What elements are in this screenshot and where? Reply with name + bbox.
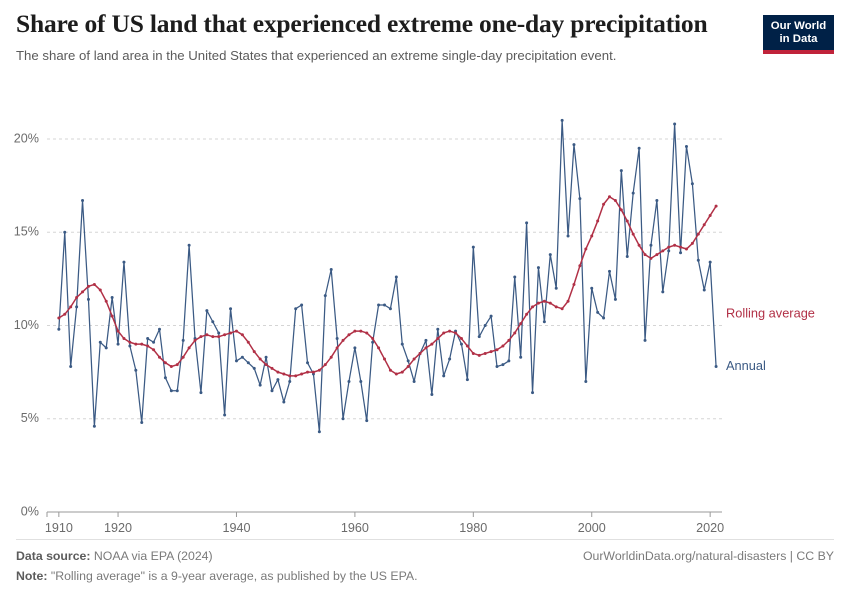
data-point[interactable] xyxy=(87,298,90,301)
data-point[interactable] xyxy=(484,352,487,355)
data-point[interactable] xyxy=(531,305,534,308)
data-point[interactable] xyxy=(312,371,315,374)
data-point[interactable] xyxy=(211,335,214,338)
data-point[interactable] xyxy=(217,331,220,334)
data-point[interactable] xyxy=(69,305,72,308)
x-axis-tick-label: 1980 xyxy=(459,521,487,534)
data-point[interactable] xyxy=(122,337,125,340)
data-point[interactable] xyxy=(679,251,682,254)
data-point[interactable] xyxy=(152,348,155,351)
data-point[interactable] xyxy=(383,303,386,306)
data-point[interactable] xyxy=(99,341,102,344)
data-point[interactable] xyxy=(389,369,392,372)
data-point[interactable] xyxy=(614,199,617,202)
data-point[interactable] xyxy=(347,380,350,383)
series-line-annual[interactable] xyxy=(59,120,716,431)
data-point[interactable] xyxy=(537,266,540,269)
data-point[interactable] xyxy=(584,248,587,251)
data-point[interactable] xyxy=(632,192,635,195)
data-point[interactable] xyxy=(442,374,445,377)
data-point[interactable] xyxy=(407,365,410,368)
chart-page: Share of US land that experienced extrem… xyxy=(0,0,850,600)
data-point[interactable] xyxy=(649,244,652,247)
data-point[interactable] xyxy=(501,363,504,366)
data-point[interactable] xyxy=(655,199,658,202)
data-point[interactable] xyxy=(436,337,439,340)
data-point[interactable] xyxy=(531,391,534,394)
data-point[interactable] xyxy=(75,305,78,308)
data-point[interactable] xyxy=(490,315,493,318)
data-point[interactable] xyxy=(407,359,410,362)
data-point[interactable] xyxy=(288,374,291,377)
data-point[interactable] xyxy=(709,214,712,217)
data-point[interactable] xyxy=(507,359,510,362)
data-point[interactable] xyxy=(259,358,262,361)
data-point[interactable] xyxy=(117,330,120,333)
data-point[interactable] xyxy=(128,345,131,348)
data-point[interactable] xyxy=(413,358,416,361)
attribution-link[interactable]: OurWorldinData.org/natural-disasters | C… xyxy=(583,546,834,566)
data-point[interactable] xyxy=(413,380,416,383)
data-point[interactable] xyxy=(525,313,528,316)
data-point[interactable] xyxy=(223,414,226,417)
data-point[interactable] xyxy=(294,374,297,377)
data-point[interactable] xyxy=(685,145,688,148)
data-point[interactable] xyxy=(632,233,635,236)
x-axis-tick-label: 1960 xyxy=(341,521,369,534)
data-point[interactable] xyxy=(318,430,321,433)
note-value: "Rolling average" is a 9-year average, a… xyxy=(47,569,417,583)
series-label-rolling-average: Rolling average xyxy=(726,306,815,321)
data-point[interactable] xyxy=(140,421,143,424)
data-point[interactable] xyxy=(324,294,327,297)
data-point[interactable] xyxy=(614,298,617,301)
x-axis-tick-label: 2020 xyxy=(696,521,724,534)
data-point[interactable] xyxy=(389,307,392,310)
data-point[interactable] xyxy=(229,331,232,334)
series-label-annual: Annual xyxy=(726,358,766,373)
data-point[interactable] xyxy=(300,303,303,306)
data-point[interactable] xyxy=(199,335,202,338)
data-point[interactable] xyxy=(567,234,570,237)
data-point[interactable] xyxy=(555,305,558,308)
data-point[interactable] xyxy=(241,333,244,336)
data-point[interactable] xyxy=(318,369,321,372)
data-point[interactable] xyxy=(484,324,487,327)
data-point[interactable] xyxy=(276,371,279,374)
data-point[interactable] xyxy=(691,242,694,245)
data-point[interactable] xyxy=(57,317,60,320)
data-point[interactable] xyxy=(626,220,629,223)
data-point[interactable] xyxy=(596,311,599,314)
data-point[interactable] xyxy=(490,350,493,353)
data-point[interactable] xyxy=(395,276,398,279)
data-point[interactable] xyxy=(271,389,274,392)
data-point[interactable] xyxy=(111,296,114,299)
data-point[interactable] xyxy=(424,346,427,349)
data-point[interactable] xyxy=(436,328,439,331)
data-point[interactable] xyxy=(365,331,368,334)
line-chart-svg[interactable]: 0%5%10%15%20% 19101920194019601980200020… xyxy=(0,82,850,534)
data-point[interactable] xyxy=(478,354,481,357)
data-point[interactable] xyxy=(194,339,197,342)
data-point[interactable] xyxy=(342,339,345,342)
source-value: NOAA via EPA (2024) xyxy=(91,549,213,563)
y-axis-tick-label: 20% xyxy=(14,131,39,145)
data-point[interactable] xyxy=(395,372,398,375)
data-point[interactable] xyxy=(253,367,256,370)
data-point[interactable] xyxy=(496,365,499,368)
data-point[interactable] xyxy=(93,425,96,428)
data-point[interactable] xyxy=(276,378,279,381)
data-point[interactable] xyxy=(353,330,356,333)
data-series-group[interactable] xyxy=(57,119,717,433)
data-point[interactable] xyxy=(466,345,469,348)
data-point[interactable] xyxy=(572,283,575,286)
data-point[interactable] xyxy=(330,268,333,271)
data-point[interactable] xyxy=(685,248,688,251)
data-point[interactable] xyxy=(555,287,558,290)
data-point[interactable] xyxy=(223,333,226,336)
data-point[interactable] xyxy=(691,182,694,185)
data-point[interactable] xyxy=(620,208,623,211)
data-point[interactable] xyxy=(460,343,463,346)
x-axis-tick-label: 1910 xyxy=(45,521,73,534)
data-point[interactable] xyxy=(478,335,481,338)
data-point[interactable] xyxy=(519,322,522,325)
data-point[interactable] xyxy=(229,307,232,310)
page-title: Share of US land that experienced extrem… xyxy=(16,10,736,39)
data-point[interactable] xyxy=(697,233,700,236)
data-point[interactable] xyxy=(543,300,546,303)
data-point[interactable] xyxy=(188,346,191,349)
data-point[interactable] xyxy=(673,123,676,126)
data-point[interactable] xyxy=(271,367,274,370)
data-point[interactable] xyxy=(353,346,356,349)
data-point[interactable] xyxy=(117,343,120,346)
data-point[interactable] xyxy=(134,369,137,372)
data-point[interactable] xyxy=(513,276,516,279)
data-point[interactable] xyxy=(182,339,185,342)
data-point[interactable] xyxy=(164,361,167,364)
data-point[interactable] xyxy=(507,339,510,342)
data-point[interactable] xyxy=(57,328,60,331)
data-point[interactable] xyxy=(146,337,149,340)
data-point[interactable] xyxy=(158,356,161,359)
data-point[interactable] xyxy=(424,339,427,342)
footer-source-row: Data source: NOAA via EPA (2024) OurWorl… xyxy=(16,546,834,566)
data-point[interactable] xyxy=(644,339,647,342)
data-point[interactable] xyxy=(620,169,623,172)
data-point[interactable] xyxy=(134,343,137,346)
data-point[interactable] xyxy=(661,249,664,252)
data-point[interactable] xyxy=(561,119,564,122)
source-label: Data source: xyxy=(16,549,91,563)
data-point[interactable] xyxy=(359,380,362,383)
data-point[interactable] xyxy=(122,261,125,264)
data-point[interactable] xyxy=(164,376,167,379)
data-point[interactable] xyxy=(253,350,256,353)
data-point[interactable] xyxy=(63,231,66,234)
data-point[interactable] xyxy=(235,359,238,362)
data-point[interactable] xyxy=(170,389,173,392)
data-point[interactable] xyxy=(211,320,214,323)
data-point[interactable] xyxy=(703,223,706,226)
data-point[interactable] xyxy=(87,285,90,288)
data-point[interactable] xyxy=(205,333,208,336)
data-point[interactable] xyxy=(638,244,641,247)
data-point[interactable] xyxy=(430,393,433,396)
data-point[interactable] xyxy=(709,261,712,264)
data-point[interactable] xyxy=(347,333,350,336)
data-point[interactable] xyxy=(590,234,593,237)
data-point[interactable] xyxy=(365,419,368,422)
data-point[interactable] xyxy=(578,197,581,200)
data-point[interactable] xyxy=(430,343,433,346)
x-axis-tick-label: 1920 xyxy=(104,521,132,534)
data-point[interactable] xyxy=(472,246,475,249)
data-point[interactable] xyxy=(419,352,422,355)
data-point[interactable] xyxy=(170,365,173,368)
data-point[interactable] xyxy=(294,307,297,310)
data-point[interactable] xyxy=(152,341,155,344)
data-point[interactable] xyxy=(128,341,131,344)
data-point[interactable] xyxy=(241,356,244,359)
data-point[interactable] xyxy=(81,290,84,293)
chart-subtitle: The share of land area in the United Sta… xyxy=(16,48,746,65)
data-point[interactable] xyxy=(99,289,102,292)
data-point[interactable] xyxy=(602,203,605,206)
data-point[interactable] xyxy=(644,253,647,256)
data-point[interactable] xyxy=(667,249,670,252)
data-point[interactable] xyxy=(537,302,540,305)
logo-line-1: Our World xyxy=(767,20,830,33)
data-point[interactable] xyxy=(359,330,362,333)
data-point[interactable] xyxy=(673,244,676,247)
data-point[interactable] xyxy=(282,372,285,375)
data-point[interactable] xyxy=(401,371,404,374)
data-point[interactable] xyxy=(661,290,664,293)
data-point[interactable] xyxy=(383,358,386,361)
y-axis-tick-label: 5% xyxy=(21,411,39,425)
data-point[interactable] xyxy=(578,264,581,267)
data-point[interactable] xyxy=(176,389,179,392)
data-point[interactable] xyxy=(513,331,516,334)
data-point[interactable] xyxy=(336,337,339,340)
data-point[interactable] xyxy=(81,199,84,202)
data-point[interactable] xyxy=(342,417,345,420)
data-point[interactable] xyxy=(105,300,108,303)
data-point[interactable] xyxy=(608,195,611,198)
data-point[interactable] xyxy=(288,380,291,383)
data-point[interactable] xyxy=(697,259,700,262)
chart-footer: Data source: NOAA via EPA (2024) OurWorl… xyxy=(16,546,834,586)
y-axis-tick-label: 15% xyxy=(14,225,39,239)
data-point[interactable] xyxy=(205,309,208,312)
data-point[interactable] xyxy=(182,356,185,359)
data-point[interactable] xyxy=(158,328,161,331)
data-point[interactable] xyxy=(549,253,552,256)
chart-header: Share of US land that experienced extrem… xyxy=(16,10,834,64)
data-point[interactable] xyxy=(377,346,380,349)
x-axis-group: 1910192019401960198020002020 xyxy=(45,512,724,534)
data-point[interactable] xyxy=(199,391,202,394)
x-axis-tick-label: 1940 xyxy=(222,521,250,534)
note-label: Note: xyxy=(16,569,47,583)
data-point[interactable] xyxy=(93,283,96,286)
data-point[interactable] xyxy=(330,356,333,359)
data-point[interactable] xyxy=(306,361,309,364)
data-point[interactable] xyxy=(567,300,570,303)
data-point[interactable] xyxy=(75,296,78,299)
data-point[interactable] xyxy=(602,317,605,320)
data-point[interactable] xyxy=(105,346,108,349)
data-point[interactable] xyxy=(608,270,611,273)
data-point[interactable] xyxy=(584,380,587,383)
data-point[interactable] xyxy=(63,313,66,316)
data-point[interactable] xyxy=(454,331,457,334)
data-point[interactable] xyxy=(265,356,268,359)
data-point[interactable] xyxy=(176,363,179,366)
data-point[interactable] xyxy=(448,358,451,361)
data-point[interactable] xyxy=(247,341,250,344)
data-point[interactable] xyxy=(715,365,718,368)
data-point[interactable] xyxy=(217,335,220,338)
data-point[interactable] xyxy=(442,331,445,334)
data-point[interactable] xyxy=(626,255,629,258)
data-point[interactable] xyxy=(596,220,599,223)
data-point[interactable] xyxy=(466,378,469,381)
y-axis-tick-label: 0% xyxy=(21,504,39,518)
data-point[interactable] xyxy=(146,345,149,348)
data-point[interactable] xyxy=(501,345,504,348)
footer-divider xyxy=(16,539,834,540)
data-point[interactable] xyxy=(401,343,404,346)
data-point[interactable] xyxy=(247,361,250,364)
data-point[interactable] xyxy=(549,302,552,305)
series-line-rolling-average[interactable] xyxy=(59,197,716,376)
data-point[interactable] xyxy=(679,246,682,249)
data-point[interactable] xyxy=(265,363,268,366)
data-point[interactable] xyxy=(460,337,463,340)
data-point[interactable] xyxy=(300,372,303,375)
data-point[interactable] xyxy=(282,400,285,403)
series-labels-group: AnnualRolling average xyxy=(726,306,815,373)
data-point[interactable] xyxy=(590,287,593,290)
data-point[interactable] xyxy=(655,253,658,256)
data-point[interactable] xyxy=(703,289,706,292)
owid-logo[interactable]: Our World in Data xyxy=(763,15,834,54)
y-axis-tick-label: 10% xyxy=(14,318,39,332)
data-point[interactable] xyxy=(188,244,191,247)
chart-plot-area[interactable]: 0%5%10%15%20% 19101920194019601980200020… xyxy=(0,82,850,534)
data-point[interactable] xyxy=(649,257,652,260)
data-point[interactable] xyxy=(111,315,114,318)
data-point[interactable] xyxy=(377,303,380,306)
data-point[interactable] xyxy=(448,330,451,333)
data-point[interactable] xyxy=(561,307,564,310)
data-point[interactable] xyxy=(306,371,309,374)
data-point[interactable] xyxy=(638,147,641,150)
data-point[interactable] xyxy=(572,143,575,146)
data-point[interactable] xyxy=(496,348,499,351)
data-point[interactable] xyxy=(324,363,327,366)
y-axis-labels-group: 0%5%10%15%20% xyxy=(14,131,39,518)
data-point[interactable] xyxy=(667,246,670,249)
data-point[interactable] xyxy=(336,346,339,349)
data-point[interactable] xyxy=(69,365,72,368)
x-axis-tick-label: 2000 xyxy=(578,521,606,534)
data-point[interactable] xyxy=(543,320,546,323)
data-point[interactable] xyxy=(140,343,143,346)
data-point[interactable] xyxy=(525,221,528,224)
data-point[interactable] xyxy=(235,330,238,333)
data-point[interactable] xyxy=(519,356,522,359)
logo-line-2: in Data xyxy=(767,33,830,46)
data-point[interactable] xyxy=(715,205,718,208)
data-point[interactable] xyxy=(371,337,374,340)
data-point[interactable] xyxy=(259,384,262,387)
footer-note-row: Note: "Rolling average" is a 9-year aver… xyxy=(16,566,834,586)
data-point[interactable] xyxy=(472,352,475,355)
